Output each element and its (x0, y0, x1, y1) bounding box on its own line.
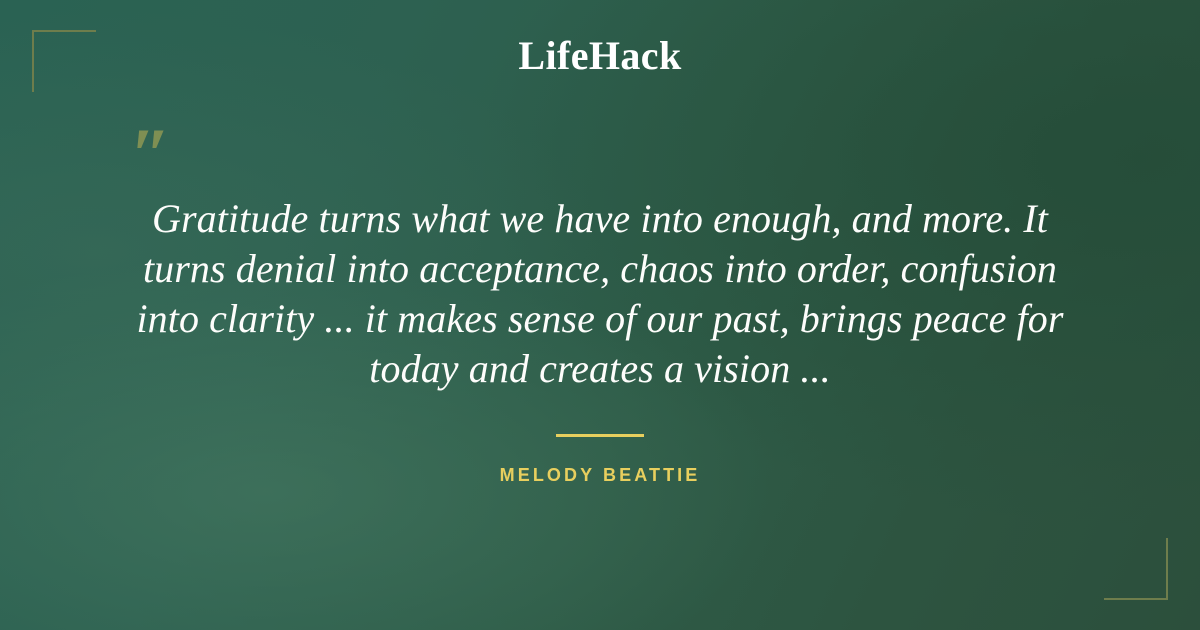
quote-text: Gratitude turns what we have into enough… (100, 194, 1100, 394)
brand-logo: LifeHack (0, 36, 1200, 76)
quote-line: today and creates a vision ... (100, 344, 1100, 394)
open-quote-icon: ″ (130, 118, 169, 192)
corner-bracket-bottom-right-icon (1104, 538, 1168, 600)
quote-line: turns denial into acceptance, chaos into… (100, 244, 1100, 294)
quote-line: into clarity ... it makes sense of our p… (100, 294, 1100, 344)
attribution-divider (556, 434, 644, 437)
quote-author: MELODY BEATTIE (0, 464, 1200, 486)
quote-card: LifeHack ″ Gratitude turns what we have … (0, 0, 1200, 630)
quote-line: Gratitude turns what we have into enough… (100, 194, 1100, 244)
